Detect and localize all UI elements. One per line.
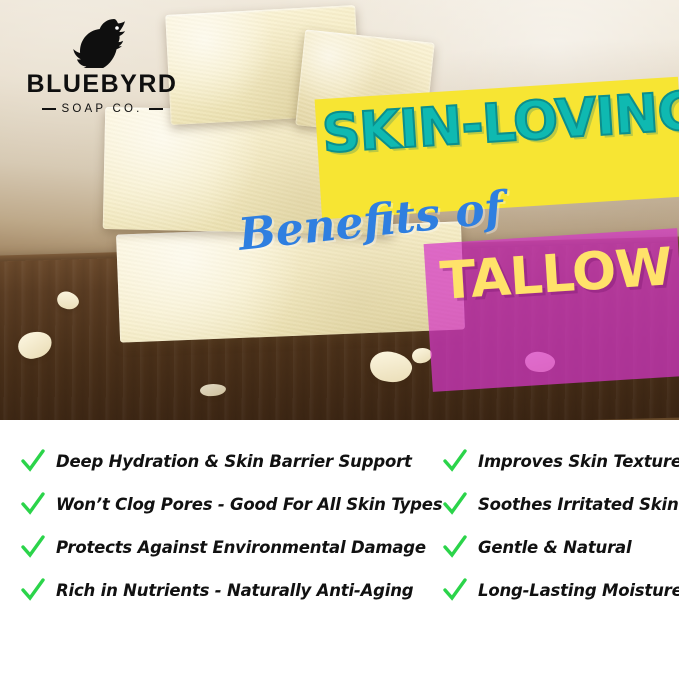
- benefits-left-column: Deep Hydration & Skin Barrier Support Wo…: [10, 448, 440, 679]
- brand-name: BLUEBYRD: [18, 72, 186, 97]
- benefit-label: Deep Hydration & Skin Barrier Support: [56, 452, 412, 471]
- check-icon: [442, 534, 468, 560]
- check-icon: [20, 448, 46, 474]
- benefit-item: Soothes Irritated Skin: [442, 491, 679, 517]
- benefit-item: Rich in Nutrients - Naturally Anti-Aging: [20, 577, 440, 603]
- benefit-label: Soothes Irritated Skin: [478, 495, 679, 514]
- product-photo: BLUEBYRD SOAP CO. SKIN-LOVING TALLOW Ben…: [0, 0, 679, 420]
- benefit-item: Won’t Clog Pores - Good For All Skin Typ…: [20, 491, 440, 517]
- bird-icon: [70, 14, 134, 68]
- brand-logo: BLUEBYRD SOAP CO.: [18, 14, 186, 115]
- benefit-label: Gentle & Natural: [478, 538, 631, 557]
- rule-right: [149, 108, 163, 110]
- headline-line2: TALLOW: [439, 240, 679, 308]
- brand-tagline: SOAP CO.: [18, 103, 186, 115]
- check-icon: [442, 491, 468, 517]
- benefit-label: Protects Against Environmental Damage: [56, 538, 426, 557]
- check-icon: [20, 577, 46, 603]
- benefit-label: Long-Lasting Moisture: [478, 581, 679, 600]
- benefit-item: Long-Lasting Moisture: [442, 577, 679, 603]
- benefit-item: Protects Against Environmental Damage: [20, 534, 440, 560]
- check-icon: [20, 534, 46, 560]
- benefit-label: Won’t Clog Pores - Good For All Skin Typ…: [56, 495, 442, 514]
- benefit-item: Gentle & Natural: [442, 534, 679, 560]
- benefit-label: Improves Skin Texture: [478, 452, 679, 471]
- benefit-item: Improves Skin Texture: [442, 448, 679, 474]
- check-icon: [442, 448, 468, 474]
- brand-tagline-text: SOAP CO.: [62, 103, 143, 115]
- benefits-right-column: Improves Skin Texture Soothes Irritated …: [440, 448, 679, 679]
- benefits-section: Deep Hydration & Skin Barrier Support Wo…: [0, 420, 679, 679]
- benefit-item: Deep Hydration & Skin Barrier Support: [20, 448, 440, 474]
- benefit-label: Rich in Nutrients - Naturally Anti-Aging: [56, 581, 413, 600]
- check-icon: [20, 491, 46, 517]
- rule-left: [42, 108, 56, 110]
- product-infographic: BLUEBYRD SOAP CO. SKIN-LOVING TALLOW Ben…: [0, 0, 679, 679]
- check-icon: [442, 577, 468, 603]
